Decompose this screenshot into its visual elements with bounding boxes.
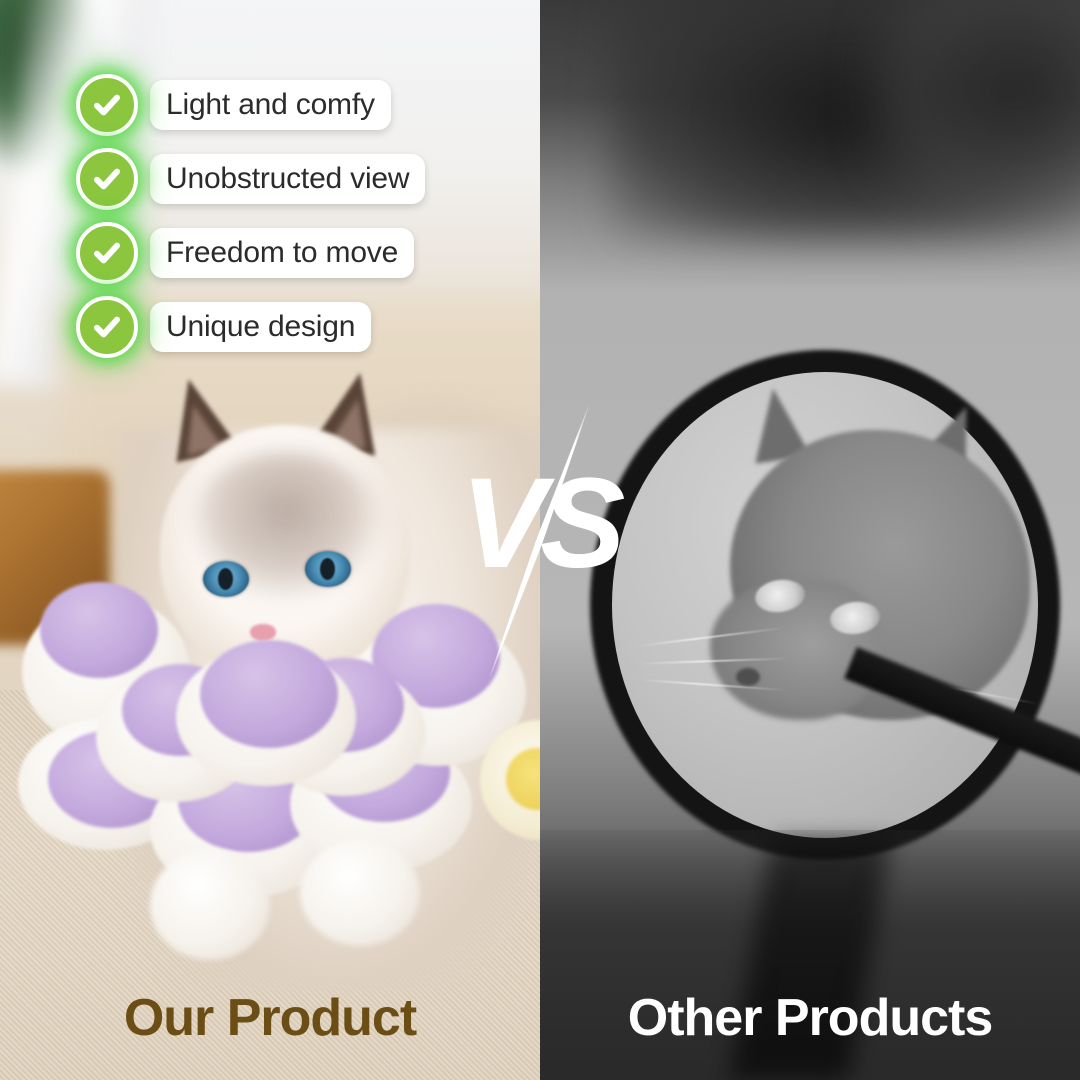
list-item: Light and comfy	[76, 74, 425, 136]
list-item: Freedom to move	[76, 222, 425, 284]
feature-pill: Unique design	[150, 302, 371, 352]
feature-pill: Freedom to move	[150, 228, 414, 278]
check-circle-icon	[76, 148, 138, 210]
cat-paw-left	[150, 850, 270, 960]
comparison-infographic: Light and comfy Unobstructed view	[0, 0, 1080, 1080]
feature-pill: Unobstructed view	[150, 154, 425, 204]
collar-petal	[40, 582, 158, 678]
list-item: Unobstructed view	[76, 148, 425, 210]
collar-petal-center	[200, 640, 338, 748]
background-dark-blur	[870, 0, 1080, 220]
feature-label: Unique design	[166, 312, 355, 342]
our-product-panel: Light and comfy Unobstructed view	[0, 0, 540, 1080]
check-circle-icon	[76, 296, 138, 358]
feature-label: Freedom to move	[166, 238, 398, 268]
other-products-panel: Uncomfortable Blocks sight	[540, 0, 1080, 1080]
other-products-title: Other Products	[540, 988, 1080, 1048]
cone-cat-nose	[736, 668, 760, 686]
our-product-feature-list: Light and comfy Unobstructed view	[76, 74, 425, 370]
other-products-photo	[540, 0, 1080, 1080]
cat-pupil-right	[320, 558, 335, 580]
cat-nose	[250, 624, 276, 641]
feature-pill: Light and comfy	[150, 80, 391, 130]
list-item: Unique design	[76, 296, 425, 358]
our-product-title: Our Product	[0, 988, 540, 1048]
feature-label: Unobstructed view	[166, 164, 409, 194]
feature-label: Light and comfy	[166, 90, 375, 120]
cat-paw-right	[300, 840, 420, 946]
cat-pupil-left	[218, 568, 233, 590]
check-circle-icon	[76, 74, 138, 136]
check-circle-icon	[76, 222, 138, 284]
